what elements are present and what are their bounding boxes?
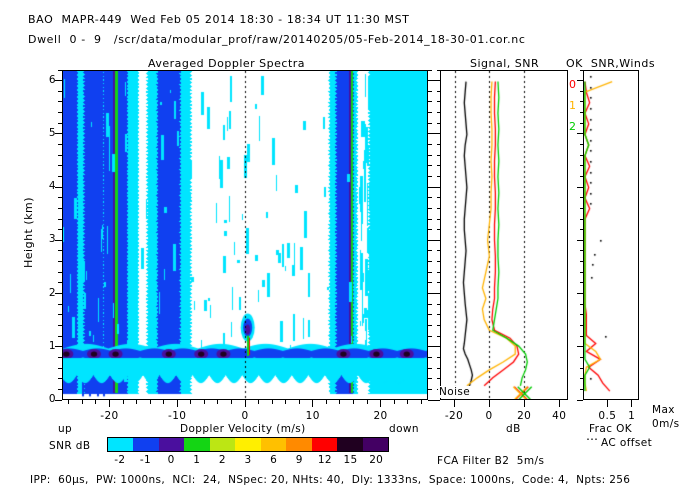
doppler-spectra-plot[interactable]: [62, 70, 428, 400]
x-axis-label-signal: dB: [506, 423, 521, 435]
y-tick-major-0: [55, 400, 62, 401]
x-tick-minor: [285, 400, 286, 404]
y-tick-major-6: [55, 80, 62, 81]
ok-y-tick: [580, 378, 583, 379]
x-tick-minor: [339, 400, 340, 404]
ok-y-tick: [580, 101, 583, 102]
y-tick-label-6: 6: [38, 74, 56, 86]
x-tick-minor: [68, 400, 69, 404]
x-tick-major-3: [312, 400, 313, 407]
y-tick-minor-right: [428, 378, 432, 379]
ok-y-tick: [580, 336, 583, 337]
y-tick-minor-right: [428, 155, 432, 156]
y-tick-minor: [58, 389, 62, 390]
x-tick-minor: [326, 400, 327, 404]
signal-x-tick-label-0: -20: [438, 410, 470, 422]
x-tick-minor: [123, 400, 124, 404]
colorbar-segment-1: [133, 438, 158, 451]
x-tick-label-4: 20: [365, 410, 397, 422]
signal-x-tick-1: [489, 400, 490, 407]
colorbar-title: SNR dB: [49, 440, 90, 452]
y-tick-minor-right: [428, 123, 432, 124]
y-tick-minor: [58, 70, 62, 71]
y-tick-label-0: 0: [38, 393, 56, 405]
signal-y-tick: [437, 357, 440, 358]
signal-x-tick-2: [524, 400, 525, 407]
x-tick-minor: [421, 400, 422, 404]
signal-x-tick-3: [559, 400, 560, 407]
colorbar-segment-6: [261, 438, 286, 451]
signal-y-tick: [437, 176, 440, 177]
ok-y-tick: [580, 261, 583, 262]
signal-y-tick: [437, 336, 440, 337]
x-tick-major-0: [109, 400, 110, 407]
x-tick-minor: [82, 400, 83, 404]
y-tick-major-5: [55, 133, 62, 134]
x-tick-minor: [204, 400, 205, 404]
signal-y-tick: [437, 155, 440, 156]
colorbar-segment-2: [159, 438, 184, 451]
colorbar-tick-8: 12: [311, 454, 339, 466]
x-tick-minor: [190, 400, 191, 404]
ok-y-tick: [577, 133, 583, 134]
colorbar-tick-9: 15: [337, 454, 365, 466]
signal-y-tick: [434, 240, 440, 241]
x-tick-label-3: 10: [297, 410, 329, 422]
signal-y-tick: [434, 80, 440, 81]
signal-y-tick: [437, 219, 440, 220]
colorbar-tick-2: 0: [157, 454, 185, 466]
signal-y-tick: [437, 123, 440, 124]
y-tick-minor-right: [428, 229, 432, 230]
y-tick-minor: [58, 229, 62, 230]
spectra-panel-title: Averaged Doppler Spectra: [148, 57, 305, 70]
ok-panel-title: OK SNR,Winds: [566, 57, 655, 70]
x-tick-minor: [150, 400, 151, 404]
y-tick-minor: [58, 357, 62, 358]
colorbar-tick-7: 9: [285, 454, 313, 466]
ok-x-tick-label-1: 1: [618, 410, 646, 422]
x-tick-minor: [299, 400, 300, 404]
signal-y-tick: [437, 314, 440, 315]
snr-colorbar[interactable]: [107, 437, 389, 452]
ok-y-tick: [580, 208, 583, 209]
ok-y-tick: [580, 325, 583, 326]
ok-y-tick: [577, 400, 583, 401]
y-tick-minor-right: [428, 176, 432, 177]
signal-y-tick: [437, 261, 440, 262]
ok-y-tick: [580, 176, 583, 177]
ok-y-tick: [580, 314, 583, 315]
x-tick-minor: [95, 400, 96, 404]
signal-y-tick: [434, 293, 440, 294]
colorbar-segment-9: [337, 438, 362, 451]
signal-y-tick: [437, 250, 440, 251]
ok-legend-item-1: 1: [569, 99, 577, 112]
signal-y-tick: [437, 378, 440, 379]
x-tick-minor: [367, 400, 368, 404]
y-tick-minor-right: [428, 314, 432, 315]
colorbar-tick-4: 2: [208, 454, 236, 466]
x-tick-minor: [394, 400, 395, 404]
colorbar-tick-1: -1: [131, 454, 159, 466]
signal-y-tick: [437, 197, 440, 198]
y-tick-minor-right: [428, 336, 432, 337]
x-axis-label-main: Doppler Velocity (m/s): [180, 423, 306, 435]
signal-y-tick: [437, 70, 440, 71]
y-tick-minor: [58, 314, 62, 315]
x-tick-minor: [272, 400, 273, 404]
y-tick-minor-right: [428, 272, 432, 273]
colorbar-segment-5: [235, 438, 260, 451]
signal-y-tick: [437, 229, 440, 230]
ac-offset-dotted-icon: ⋯: [586, 432, 599, 446]
colorbar-tick-3: 1: [183, 454, 211, 466]
x-tick-major-1: [177, 400, 178, 407]
y-tick-minor: [58, 144, 62, 145]
x-tick-label-1: -10: [161, 410, 193, 422]
signal-y-tick: [437, 325, 440, 326]
footer-parameters: IPP: 60µs, PW: 1000ns, NCI: 24, NSpec: 2…: [30, 474, 630, 486]
y-tick-major-1: [55, 346, 62, 347]
ok-x-tick-1: [631, 400, 632, 407]
header-line-dwell-path: Dwell 0 - 9 /scr/data/modular_prof/raw/2…: [28, 33, 525, 46]
ok-y-tick: [577, 293, 583, 294]
y-tick-minor: [58, 378, 62, 379]
ok-y-tick: [580, 368, 583, 369]
x-tick-minor: [163, 400, 164, 404]
colorbar-tick-0: -2: [106, 454, 134, 466]
colorbar-segment-4: [210, 438, 235, 451]
y-tick-minor: [58, 219, 62, 220]
y-tick-minor: [58, 176, 62, 177]
ok-y-tick: [577, 80, 583, 81]
y-tick-minor-right: [428, 112, 432, 113]
signal-y-tick: [437, 208, 440, 209]
y-tick-minor-right: [428, 357, 432, 358]
colorbar-tick-6: 6: [260, 454, 288, 466]
fca-filter-annotation: FCA Filter B2 5m/s: [437, 455, 544, 467]
y-tick-minor: [58, 282, 62, 283]
axis-edge-label-down: down: [389, 423, 419, 435]
y-tick-minor: [58, 91, 62, 92]
signal-y-tick: [437, 165, 440, 166]
ok-y-tick: [580, 165, 583, 166]
x-tick-major-2: [245, 400, 246, 407]
y-tick-minor-right: [428, 325, 432, 326]
ok-y-tick: [577, 346, 583, 347]
x-tick-label-0: -20: [93, 410, 125, 422]
max-value: 0m/s: [652, 418, 680, 430]
ok-y-tick: [580, 250, 583, 251]
y-tick-label-1: 1: [38, 340, 56, 352]
x-tick-minor: [231, 400, 232, 404]
ok-y-tick: [580, 229, 583, 230]
axis-edge-label-up: up: [58, 423, 72, 435]
y-tick-minor: [58, 208, 62, 209]
x-tick-major-4: [380, 400, 381, 407]
y-tick-minor-right: [428, 282, 432, 283]
y-tick-label-2: 2: [38, 287, 56, 299]
x-tick-minor: [407, 400, 408, 404]
max-label: Max: [652, 404, 675, 416]
ok-y-tick: [580, 91, 583, 92]
y-tick-minor: [58, 155, 62, 156]
colorbar-tick-5: 3: [234, 454, 262, 466]
y-tick-minor-right: [428, 219, 432, 220]
signal-y-tick: [437, 304, 440, 305]
header-line-station-time: BAO MAPR-449 Wed Feb 05 2014 18:30 - 18:…: [28, 13, 409, 26]
y-tick-minor: [58, 250, 62, 251]
y-tick-minor: [58, 325, 62, 326]
ok-y-tick: [580, 123, 583, 124]
signal-y-tick: [437, 144, 440, 145]
y-tick-minor-right: [428, 261, 432, 262]
x-tick-minor: [136, 400, 137, 404]
ok-y-tick: [577, 240, 583, 241]
ok-y-tick: [580, 282, 583, 283]
signal-x-tick-0: [454, 400, 455, 407]
signal-y-tick: [437, 272, 440, 273]
y-tick-minor-right: [428, 304, 432, 305]
signal-y-tick: [434, 346, 440, 347]
y-tick-major-4: [55, 187, 62, 188]
ac-offset-label: AC offset: [601, 437, 652, 449]
ok-legend-item-2: 2: [569, 120, 577, 133]
x-tick-label-2: 0: [229, 410, 261, 422]
ok-y-tick: [580, 70, 583, 71]
y-tick-minor: [58, 368, 62, 369]
y-tick-minor: [58, 261, 62, 262]
y-tick-minor-right: [428, 165, 432, 166]
ok-x-tick-0: [607, 400, 608, 407]
signal-y-tick: [437, 101, 440, 102]
y-tick-minor-right: [428, 250, 432, 251]
y-tick-minor-right: [428, 197, 432, 198]
signal-snr-plot[interactable]: [440, 70, 568, 400]
y-tick-minor: [58, 165, 62, 166]
y-tick-minor-right: [428, 389, 432, 390]
y-tick-major-2: [55, 293, 62, 294]
ok-snr-winds-plot[interactable]: [583, 70, 639, 400]
ok-y-tick: [580, 197, 583, 198]
colorbar-segment-7: [286, 438, 311, 451]
y-tick-minor-right: [428, 101, 432, 102]
signal-y-tick: [437, 112, 440, 113]
y-tick-minor: [58, 123, 62, 124]
x-tick-minor: [258, 400, 259, 404]
y-tick-minor-right: [428, 91, 432, 92]
signal-y-tick: [437, 282, 440, 283]
y-tick-minor: [58, 272, 62, 273]
ok-y-tick: [580, 357, 583, 358]
ok-y-tick: [580, 155, 583, 156]
signal-panel-title: Signal, SNR: [470, 57, 539, 70]
ok-y-tick: [577, 187, 583, 188]
y-tick-minor-right: [428, 208, 432, 209]
x-tick-minor: [217, 400, 218, 404]
ok-y-tick: [580, 272, 583, 273]
colorbar-segment-10: [363, 438, 388, 451]
y-tick-minor: [58, 112, 62, 113]
y-tick-label-5: 5: [38, 127, 56, 139]
y-tick-minor-right: [428, 368, 432, 369]
ok-y-tick: [580, 219, 583, 220]
signal-y-tick: [434, 400, 440, 401]
x-tick-minor: [353, 400, 354, 404]
ok-y-tick: [580, 144, 583, 145]
noise-label: Noise: [438, 386, 471, 398]
y-axis-label: Height (km): [22, 197, 35, 268]
y-tick-minor: [58, 336, 62, 337]
y-tick-minor: [58, 304, 62, 305]
y-tick-minor: [58, 197, 62, 198]
y-tick-minor-right: [428, 144, 432, 145]
ok-y-tick: [580, 304, 583, 305]
y-tick-label-4: 4: [38, 180, 56, 192]
signal-x-tick-label-2: 20: [508, 410, 540, 422]
signal-y-tick: [437, 368, 440, 369]
colorbar-segment-3: [184, 438, 209, 451]
signal-x-tick-label-1: 0: [473, 410, 505, 422]
y-tick-major-3: [55, 240, 62, 241]
signal-y-tick: [434, 187, 440, 188]
signal-y-tick: [437, 91, 440, 92]
ok-y-tick: [580, 112, 583, 113]
ok-y-tick: [580, 389, 583, 390]
y-tick-label-3: 3: [38, 233, 56, 245]
signal-x-tick-label-3: 40: [543, 410, 575, 422]
y-tick-minor: [58, 101, 62, 102]
colorbar-segment-8: [312, 438, 337, 451]
colorbar-tick-10: 20: [362, 454, 390, 466]
y-tick-minor-right: [428, 70, 432, 71]
ok-legend-item-0: 0: [569, 78, 577, 91]
signal-y-tick: [434, 133, 440, 134]
colorbar-segment-0: [108, 438, 133, 451]
